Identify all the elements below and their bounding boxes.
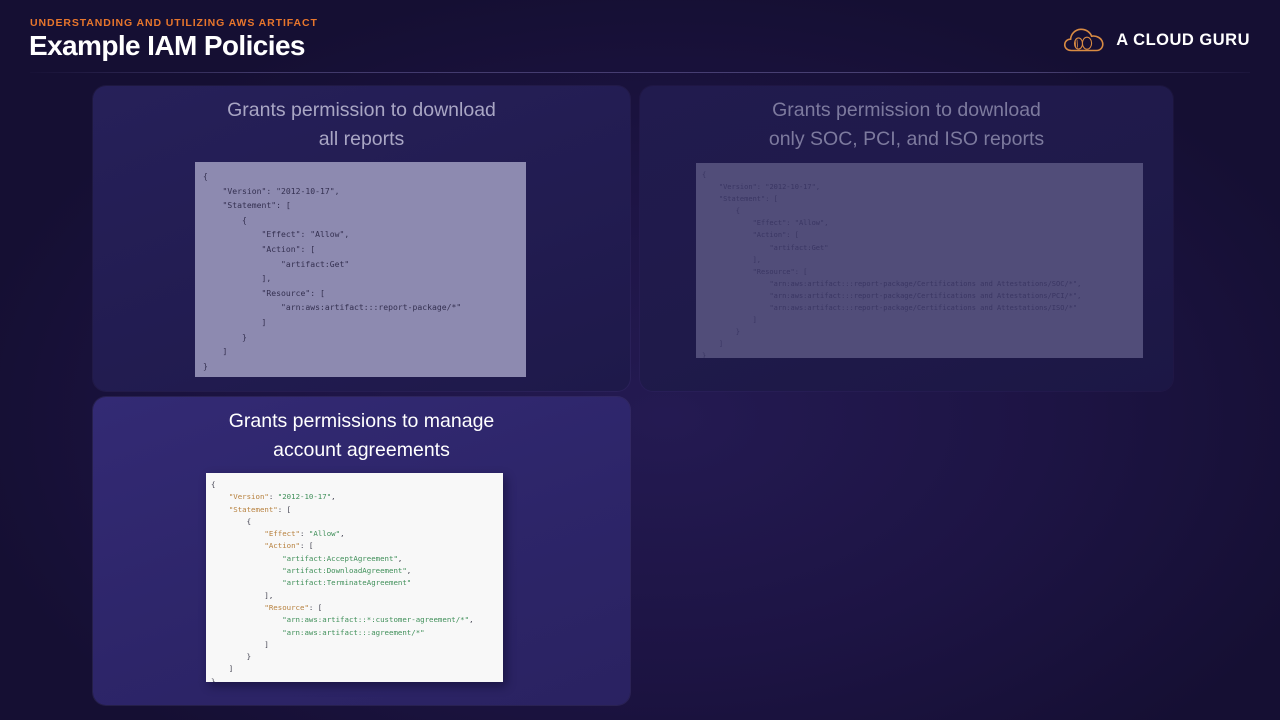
header-divider (30, 72, 1250, 73)
page-title: Example IAM Policies (29, 30, 305, 62)
code-block: { "Version": "2012-10-17", "Statement": … (195, 162, 526, 377)
slide-header: UNDERSTANDING AND UTILIZING AWS ARTIFACT… (0, 0, 1280, 73)
code-block: { "Version": "2012-10-17", "Statement": … (206, 473, 503, 682)
code-block: { "Version": "2012-10-17", "Statement": … (696, 163, 1143, 358)
brand-logo: A CLOUD GURU (1063, 26, 1250, 54)
card-title: Grants permission to download only SOC, … (640, 96, 1173, 154)
policy-card-all-reports[interactable]: Grants permission to download all report… (93, 86, 630, 391)
slide-root: UNDERSTANDING AND UTILIZING AWS ARTIFACT… (0, 0, 1280, 720)
policy-card-soc-pci-iso-reports[interactable]: Grants permission to download only SOC, … (640, 86, 1173, 391)
card-title: Grants permissions to manage account agr… (93, 407, 630, 465)
brand-name: A CLOUD GURU (1116, 31, 1250, 50)
policy-card-account-agreements[interactable]: Grants permissions to manage account agr… (93, 397, 630, 705)
card-title: Grants permission to download all report… (93, 96, 630, 154)
slide-eyebrow: UNDERSTANDING AND UTILIZING AWS ARTIFACT (30, 17, 318, 29)
cloud-outline-icon (1063, 26, 1105, 54)
